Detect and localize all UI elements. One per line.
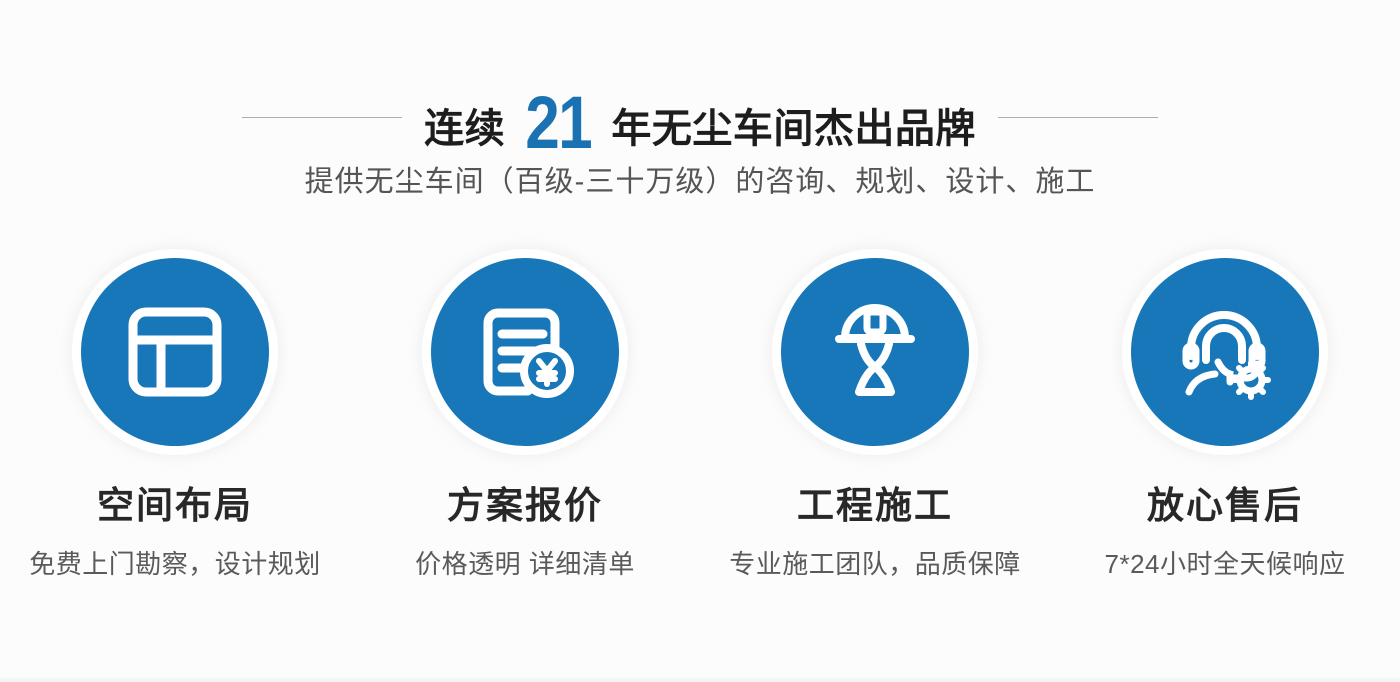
feature-desc: 价格透明 详细清单 xyxy=(415,544,635,581)
feature-desc: 免费上门勘察，设计规划 xyxy=(29,544,321,581)
headline-rule-right xyxy=(998,117,1158,118)
feature-title: 工程施工 xyxy=(797,486,953,527)
feature-list: 空间布局 免费上门勘察，设计规划 xyxy=(0,258,1400,618)
headline-row: 连续 21 年无尘车间杰出品牌 xyxy=(0,86,1400,148)
feature-icon-circle xyxy=(81,258,269,446)
document-yen-quote-icon xyxy=(473,300,577,404)
feature-icon-circle xyxy=(431,258,619,446)
layout-grid-icon xyxy=(123,300,227,404)
headline: 连续 21 年无尘车间杰出品牌 xyxy=(424,80,976,154)
feature-icon-circle xyxy=(781,258,969,446)
subheadline: 提供无尘车间（百级-三十万级）的咨询、规划、设计、施工 xyxy=(0,158,1400,200)
headline-number: 21 xyxy=(525,86,591,160)
hardhat-worker-icon xyxy=(823,300,927,404)
headline-prefix: 连续 xyxy=(424,109,505,149)
feature-item-space-layout[interactable]: 空间布局 免费上门勘察，设计规划 xyxy=(0,258,350,618)
feature-title: 放心售后 xyxy=(1147,486,1303,527)
feature-item-construction[interactable]: 工程施工 专业施工团队，品质保障 xyxy=(700,258,1050,618)
feature-item-quotation[interactable]: 方案报价 价格透明 详细清单 xyxy=(350,258,700,618)
feature-title: 方案报价 xyxy=(447,486,603,527)
headline-suffix: 年无尘车间杰出品牌 xyxy=(611,109,976,149)
headset-support-gear-icon xyxy=(1173,300,1277,404)
feature-icon-circle xyxy=(1131,258,1319,446)
bottom-divider xyxy=(0,678,1400,682)
feature-title: 空间布局 xyxy=(97,486,253,527)
promo-banner: 连续 21 年无尘车间杰出品牌 提供无尘车间（百级-三十万级）的咨询、规划、设计… xyxy=(0,0,1400,235)
feature-desc: 7*24小时全天候响应 xyxy=(1105,544,1346,581)
feature-item-after-sales[interactable]: 放心售后 7*24小时全天候响应 xyxy=(1050,258,1400,618)
feature-desc: 专业施工团队，品质保障 xyxy=(729,544,1021,581)
headline-rule-left xyxy=(242,117,402,118)
